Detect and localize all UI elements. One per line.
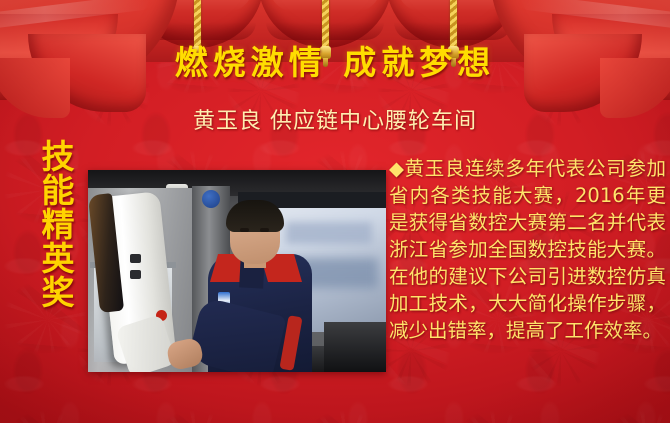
achievement-description: ◆黄玉良连续多年代表公司参加省内各类技能大赛，2016年更是获得省数控大赛第二名… — [389, 155, 666, 344]
award-poster: 燃烧激情 成就梦想 黄玉良 供应链中心腰轮车间 技 能 精 英 奖 — [0, 0, 670, 423]
poster-headline: 燃烧激情 成就梦想 — [0, 36, 670, 84]
award-label-vertical: 技 能 精 英 奖 — [36, 140, 80, 310]
award-label-char: 精 — [36, 208, 80, 242]
award-label-char: 技 — [36, 140, 80, 174]
poster-subhead: 黄玉良 供应链中心腰轮车间 — [0, 103, 670, 135]
award-label-char: 奖 — [36, 276, 80, 310]
machine-logo-badge — [202, 190, 220, 208]
award-label-char: 英 — [36, 242, 80, 276]
portrait-photo — [88, 170, 386, 372]
award-label-char: 能 — [36, 174, 80, 208]
